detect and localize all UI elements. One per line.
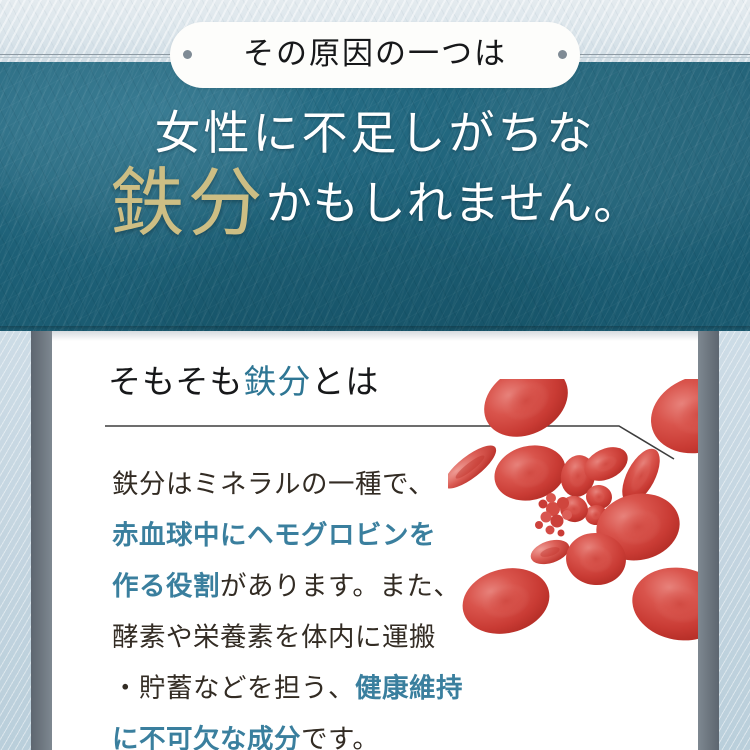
body-segment-plain: です。: [301, 724, 379, 750]
hero-badge: その原因の一つは: [170, 22, 580, 88]
subheading-suffix: とは: [311, 362, 379, 401]
body-segment-plain: があります。また、: [220, 571, 460, 602]
body-segment-highlight: 赤血球中にヘモグロビンを: [112, 520, 436, 551]
headline-line-2-rest: かもしれません。: [266, 176, 641, 230]
subheading-prefix: そもそも: [108, 362, 243, 401]
content-card: そもそも鉄分とは 鉄分はミネラルの一種で、赤血球中にヘモグロビンを作る役割があり…: [52, 331, 698, 750]
headline-line-1: 女性に不足しがちな: [0, 106, 750, 160]
headline-line-2: 鉄分かもしれません。: [0, 170, 750, 238]
rule-dot-right-icon: [558, 50, 567, 59]
rule-dot-left-icon: [183, 50, 192, 59]
rail-gray-right: [698, 331, 719, 750]
body-segment-plain: ・貯蓄などを担う、: [112, 673, 355, 704]
hero-headline: 女性に不足しがちな 鉄分かもしれません。: [0, 106, 750, 238]
body-segment-plain: 鉄分はミネラルの一種で、: [112, 469, 435, 500]
headline-accent-iron: 鉄分: [110, 159, 266, 247]
rail-blue-right-texture: [714, 331, 750, 750]
subheading-accent-iron: 鉄分: [243, 362, 311, 401]
body-segment-plain: 酵素や栄養素を体内に運搬: [112, 622, 436, 653]
card-subheading: そもそも鉄分とは: [108, 365, 379, 398]
rbc-svg: [448, 379, 698, 739]
body-segment-highlight: 作る役割: [112, 571, 220, 602]
rail-blue-right: [714, 331, 750, 750]
lower-section: そもそも鉄分とは 鉄分はミネラルの一種で、赤血球中にヘモグロビンを作る役割があり…: [0, 331, 750, 750]
body-segment-highlight: に不可欠な成分: [112, 724, 301, 750]
rail-gray-left: [31, 331, 52, 750]
promo-page: その原因の一つは 女性に不足しがちな 鉄分かもしれません。 そもそも鉄分とは: [0, 0, 750, 750]
red-blood-cells-illustration: [448, 379, 698, 739]
body-segment-highlight: 健康維持: [355, 673, 463, 704]
hero-badge-label: その原因の一つは: [243, 39, 507, 72]
